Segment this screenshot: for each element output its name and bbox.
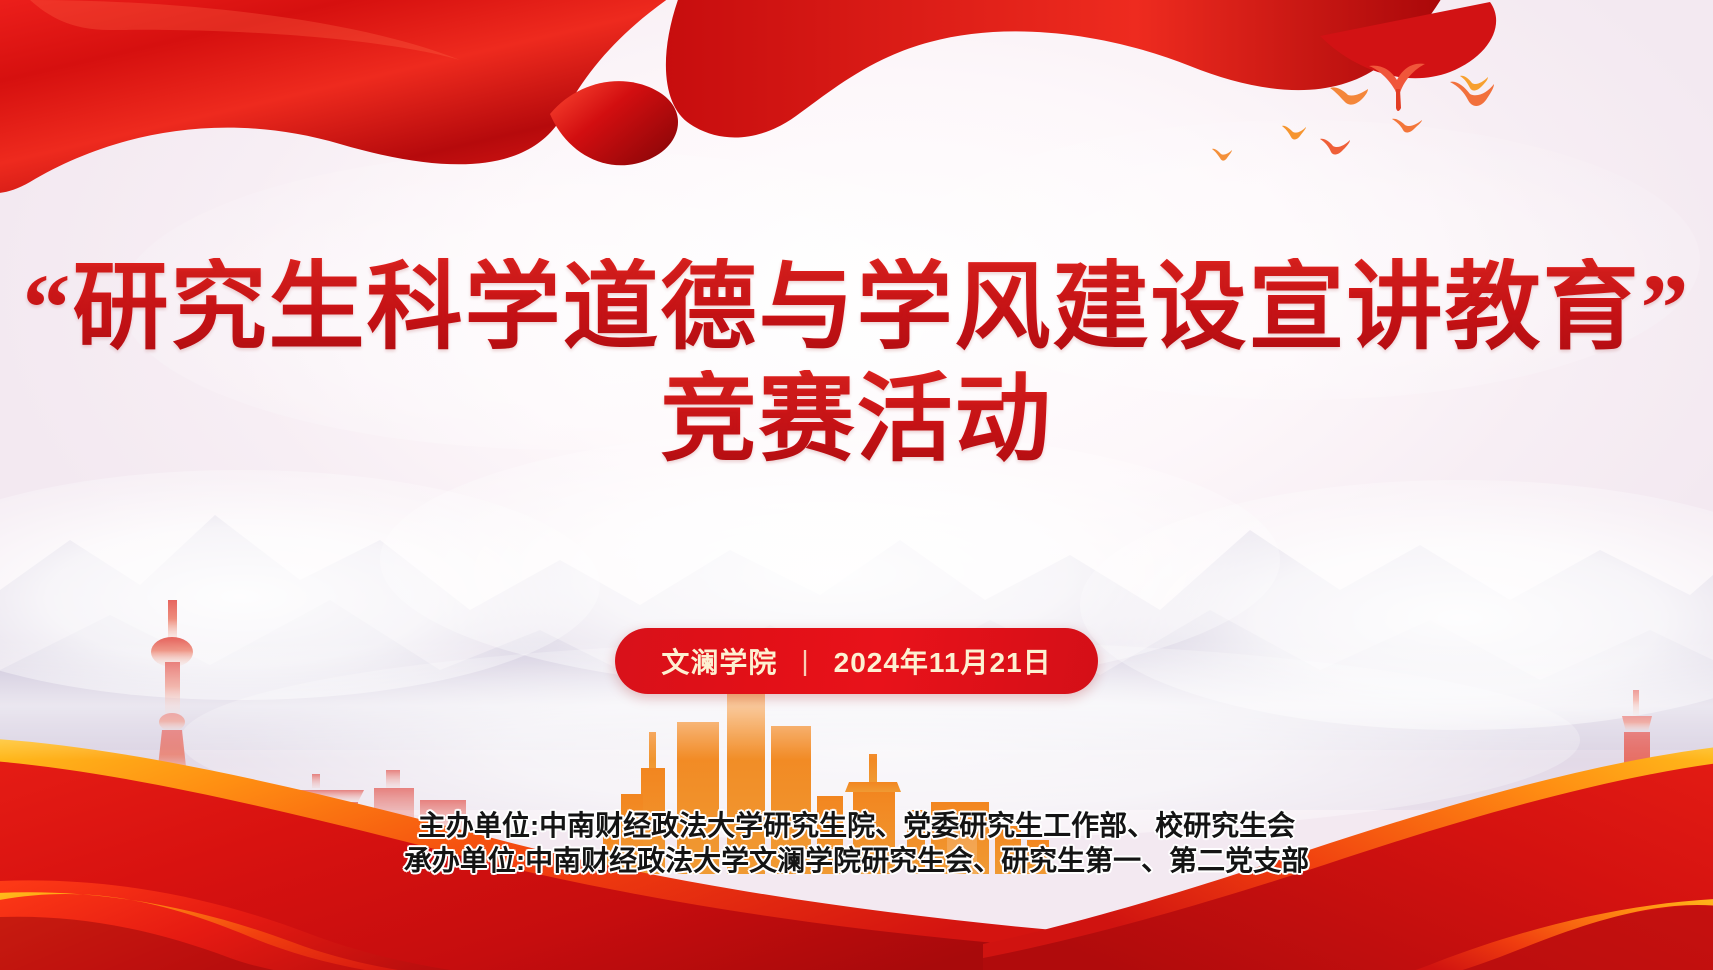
organizer-block: 主办单位:中南财经政法大学研究生院、党委研究生工作部、校研究生会 承办单位:中南… [0,808,1713,878]
badge-organizer-label: 文澜学院 [661,641,777,681]
title-line-2: 竞赛活动 [0,370,1713,470]
poster-canvas: “研究生科学道德与学风建设宣讲教育” 竞赛活动 文澜学院 | 2024年11月2… [0,0,1713,970]
red-silk-ribbon-top-left [0,0,1550,244]
organizer-line-host: 主办单位:中南财经政法大学研究生院、党委研究生工作部、校研究生会 [0,808,1713,843]
bird-icon-small-3 [1320,138,1350,156]
poster-title: “研究生科学道德与学风建设宣讲教育” 竞赛活动 [0,258,1713,470]
badge-container: 文澜学院 | 2024年11月21日 [0,628,1713,694]
bird-icon-small-5 [1460,75,1488,93]
organizer-line-coordinator: 承办单位:中南财经政法大学文澜学院研究生会、研究生第一、第二党支部 [0,843,1713,878]
bird-icon-large [1369,62,1425,114]
bird-icon-small-1 [1282,125,1306,141]
badge-separator: | [801,645,809,677]
bird-icon-small-2 [1212,148,1232,162]
bird-icon-small-4 [1392,118,1422,134]
bird-icon-medium-1 [1330,85,1368,107]
title-line-1: “研究生科学道德与学风建设宣讲教育” [0,258,1713,358]
badge-date-label: 2024年11月21日 [834,641,1052,681]
info-badge: 文澜学院 | 2024年11月21日 [615,628,1097,694]
